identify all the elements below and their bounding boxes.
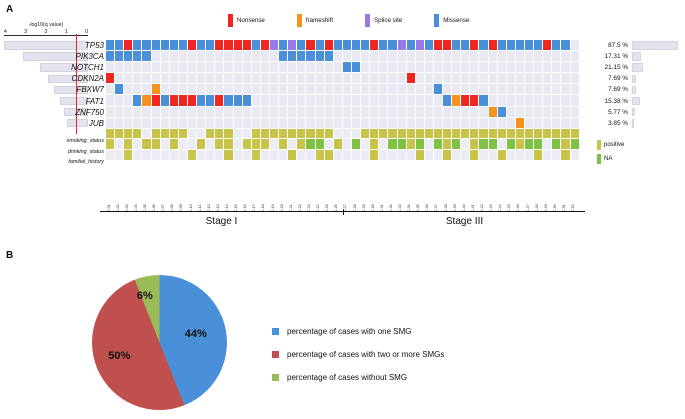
clinical-cell bbox=[416, 139, 425, 150]
oncoprint-cell bbox=[279, 95, 288, 106]
sample-id-cell: ESCC-23 bbox=[306, 172, 315, 212]
clinical-cell bbox=[224, 129, 233, 140]
oncoprint-cell bbox=[452, 51, 461, 62]
clinical-cell bbox=[470, 129, 479, 140]
oncoprint-cell bbox=[243, 107, 252, 118]
oncoprint-cell bbox=[434, 73, 443, 84]
oncoprint-cell bbox=[215, 40, 224, 51]
mutation-legend-item: Splice site bbox=[365, 14, 402, 27]
oncoprint-cell bbox=[507, 95, 516, 106]
clinical-cell bbox=[179, 129, 188, 140]
clinical-cell bbox=[306, 139, 315, 150]
oncoprint-cell bbox=[325, 62, 334, 73]
clinical-cell bbox=[188, 150, 197, 161]
gene-row: CDKN2A bbox=[56, 73, 104, 84]
oncoprint-row bbox=[106, 95, 580, 106]
pie-chart-legend: percentage of cases with one SMGpercenta… bbox=[272, 327, 444, 396]
oncoprint-cell bbox=[179, 73, 188, 84]
oncoprint-cell bbox=[316, 84, 325, 95]
oncoprint-cell bbox=[452, 40, 461, 51]
frequency-bar bbox=[632, 119, 634, 128]
oncoprint-cell bbox=[443, 62, 452, 73]
oncoprint-cell bbox=[224, 118, 233, 129]
clinical-cell bbox=[325, 129, 334, 140]
oncoprint-cell bbox=[525, 95, 534, 106]
clinical-cell bbox=[234, 150, 243, 161]
clinical-cell bbox=[379, 150, 388, 161]
qvalue-tick: 4 bbox=[4, 29, 7, 35]
oncoprint-cell bbox=[489, 95, 498, 106]
sample-id-cell: ESCC-21 bbox=[288, 172, 297, 212]
oncoprint-cell bbox=[252, 73, 261, 84]
oncoprint-cell bbox=[571, 73, 580, 84]
pie-legend-label: percentage of cases without SMG bbox=[287, 373, 407, 382]
clinical-cell bbox=[479, 129, 488, 140]
oncoprint-cell bbox=[152, 40, 161, 51]
oncoprint-cell bbox=[124, 73, 133, 84]
oncoprint-cell bbox=[133, 40, 142, 51]
clinical-row-label: smoking_status bbox=[67, 138, 104, 144]
oncoprint-cell bbox=[461, 84, 470, 95]
oncoprint-cell bbox=[543, 40, 552, 51]
oncoprint-cell bbox=[534, 95, 543, 106]
oncoprint-cell bbox=[516, 73, 525, 84]
oncoprint-cell bbox=[170, 107, 179, 118]
sample-id-cell: ESCC-41 bbox=[470, 172, 479, 212]
oncoprint-cell bbox=[516, 62, 525, 73]
oncoprint-cell bbox=[525, 84, 534, 95]
clinical-cell bbox=[543, 129, 552, 140]
oncoprint-cell bbox=[252, 40, 261, 51]
oncoprint-cell bbox=[224, 84, 233, 95]
clinical-cell bbox=[507, 129, 516, 140]
oncoprint-cell bbox=[543, 84, 552, 95]
oncoprint-cell bbox=[106, 118, 115, 129]
oncoprint-cell bbox=[142, 62, 151, 73]
sample-id-cell: ESCC-25 bbox=[325, 172, 334, 212]
oncoprint-cell bbox=[470, 40, 479, 51]
oncoprint-cell bbox=[124, 84, 133, 95]
oncoprint-cell bbox=[352, 62, 361, 73]
oncoprint-cell bbox=[434, 84, 443, 95]
oncoprint-cell bbox=[361, 40, 370, 51]
oncoprint-cell bbox=[507, 62, 516, 73]
pie-legend-label: percentage of cases with two or more SMG… bbox=[287, 350, 444, 359]
clinical-cell bbox=[297, 129, 306, 140]
oncoprint-cell bbox=[325, 84, 334, 95]
oncoprint-cell bbox=[479, 118, 488, 129]
oncoprint-cell bbox=[361, 118, 370, 129]
clinical-cell bbox=[507, 139, 516, 150]
oncoprint-cell bbox=[407, 40, 416, 51]
oncoprint-cell bbox=[461, 118, 470, 129]
oncoprint-cell bbox=[443, 51, 452, 62]
clinical-cell bbox=[443, 139, 452, 150]
oncoprint-cell bbox=[361, 73, 370, 84]
clinical-cell bbox=[343, 129, 352, 140]
oncoprint-cell bbox=[507, 107, 516, 118]
oncoprint-cell bbox=[489, 73, 498, 84]
oncoprint-cell bbox=[561, 62, 570, 73]
oncoprint-cell bbox=[534, 84, 543, 95]
oncoprint-cell bbox=[325, 73, 334, 84]
oncoprint-cell bbox=[106, 107, 115, 118]
gene-label: FAT1 bbox=[86, 97, 104, 106]
clinical-cell bbox=[179, 139, 188, 150]
frequency-bar bbox=[632, 75, 636, 84]
sample-id-cell: ESCC-35 bbox=[416, 172, 425, 212]
sample-id-cell: ESCC-03 bbox=[124, 172, 133, 212]
oncoprint-cell bbox=[279, 84, 288, 95]
stage3-bracket bbox=[344, 211, 585, 212]
oncoprint-cell bbox=[106, 84, 115, 95]
sample-id-cell: ESCC-51 bbox=[561, 172, 570, 212]
oncoprint-cell bbox=[270, 62, 279, 73]
oncoprint-cell bbox=[561, 40, 570, 51]
oncoprint-cell bbox=[388, 95, 397, 106]
sample-id-cell: ESCC-20 bbox=[279, 172, 288, 212]
oncoprint-cell bbox=[334, 73, 343, 84]
mutation-percentage: 21.15 % bbox=[605, 64, 628, 71]
oncoprint-cell bbox=[507, 51, 516, 62]
mutation-legend-item: frameshift bbox=[297, 14, 333, 27]
oncoprint-cell bbox=[343, 84, 352, 95]
oncoprint-cell bbox=[571, 107, 580, 118]
clinical-cell bbox=[252, 139, 261, 150]
sample-id-cell: ESCC-47 bbox=[525, 172, 534, 212]
oncoprint-cell bbox=[416, 51, 425, 62]
oncoprint-cell bbox=[115, 84, 124, 95]
oncoprint-cell bbox=[379, 95, 388, 106]
oncoprint-cell bbox=[234, 107, 243, 118]
clinical-cell bbox=[152, 150, 161, 161]
clinical-cell bbox=[334, 139, 343, 150]
mutation-percentage: 7.69 % bbox=[608, 75, 628, 82]
oncoprint-cell bbox=[152, 107, 161, 118]
sample-id-cell: ESCC-30 bbox=[370, 172, 379, 212]
oncoprint-cell bbox=[352, 84, 361, 95]
clinical-cell bbox=[361, 150, 370, 161]
gene-label: NOTCH1 bbox=[71, 63, 104, 72]
clinical-cell bbox=[152, 129, 161, 140]
mutation-legend-item: Nonsense bbox=[228, 14, 265, 27]
oncoprint-cell bbox=[115, 107, 124, 118]
oncoprint-cell bbox=[398, 51, 407, 62]
oncoprint-cell bbox=[561, 95, 570, 106]
oncoprint-cell bbox=[234, 73, 243, 84]
oncoprint-cell bbox=[152, 118, 161, 129]
oncoprint-cell bbox=[543, 73, 552, 84]
mutation-percentage: 5.77 % bbox=[608, 109, 628, 116]
oncoprint-cell bbox=[543, 107, 552, 118]
clinical-cell bbox=[124, 139, 133, 150]
oncoprint-cell bbox=[316, 40, 325, 51]
sample-id-cell: ESCC-28 bbox=[352, 172, 361, 212]
oncoprint-cell bbox=[316, 51, 325, 62]
oncoprint-cell bbox=[197, 62, 206, 73]
clinical-cell bbox=[516, 139, 525, 150]
oncoprint-row bbox=[106, 40, 580, 51]
gene-row: JUB bbox=[56, 118, 104, 129]
oncoprint-cell bbox=[470, 107, 479, 118]
oncoprint-cell bbox=[252, 107, 261, 118]
oncoprint-cell bbox=[124, 51, 133, 62]
oncoprint-cell bbox=[334, 84, 343, 95]
oncoprint-cell bbox=[133, 95, 142, 106]
oncoprint-cell bbox=[115, 73, 124, 84]
sample-id-cell: ESCC-29 bbox=[361, 172, 370, 212]
clinical-cell bbox=[206, 139, 215, 150]
clinical-cell bbox=[106, 129, 115, 140]
clinical-row-label-wrap: smoking_status bbox=[26, 136, 104, 147]
oncoprint-cell bbox=[316, 118, 325, 129]
oncoprint-cell bbox=[343, 40, 352, 51]
oncoprint-cell bbox=[306, 84, 315, 95]
oncoprint-cell bbox=[234, 40, 243, 51]
oncoprint-cell bbox=[197, 73, 206, 84]
oncoprint-cell bbox=[161, 62, 170, 73]
oncoprint-cell bbox=[370, 73, 379, 84]
oncoprint-cell bbox=[224, 51, 233, 62]
clinical-cell bbox=[443, 150, 452, 161]
clinical-cell bbox=[234, 129, 243, 140]
frequency-bar-row bbox=[632, 73, 682, 84]
oncoprint-cell bbox=[152, 73, 161, 84]
oncoprint-cell bbox=[234, 62, 243, 73]
oncoprint-cell bbox=[498, 107, 507, 118]
oncoprint-cell bbox=[161, 40, 170, 51]
frequency-bar bbox=[632, 41, 678, 50]
oncoprint-cell bbox=[288, 95, 297, 106]
clinical-cell bbox=[288, 129, 297, 140]
oncoprint-cell bbox=[161, 95, 170, 106]
sample-id-cell: ESCC-11 bbox=[197, 172, 206, 212]
clinical-cell bbox=[461, 139, 470, 150]
oncoprint-row bbox=[106, 62, 580, 73]
sample-id-cell: ESCC-39 bbox=[452, 172, 461, 212]
clinical-cell bbox=[325, 139, 334, 150]
gene-label-list: TP53PIK3CANOTCH1CDKN2AFBXW7FAT1ZNF750JUB bbox=[56, 40, 104, 129]
oncoprint-cell bbox=[407, 84, 416, 95]
oncoprint-cell bbox=[552, 118, 561, 129]
oncoprint-cell bbox=[407, 118, 416, 129]
oncoprint-cell bbox=[161, 84, 170, 95]
gene-label: JUB bbox=[89, 119, 104, 128]
oncoprint-cell bbox=[224, 62, 233, 73]
oncoprint-cell bbox=[297, 51, 306, 62]
oncoprint-row bbox=[106, 73, 580, 84]
oncoprint-cell bbox=[443, 107, 452, 118]
oncoprint-cell bbox=[507, 84, 516, 95]
oncoprint-cell bbox=[279, 62, 288, 73]
oncoprint-cell bbox=[561, 118, 570, 129]
sample-id-cell: ESCC-01 bbox=[106, 172, 115, 212]
oncoprint-cell bbox=[425, 84, 434, 95]
oncoprint-cell bbox=[252, 118, 261, 129]
oncoprint-cell bbox=[561, 107, 570, 118]
oncoprint-cell bbox=[434, 62, 443, 73]
clinical-cell bbox=[206, 150, 215, 161]
sample-id-cell: ESCC-04 bbox=[133, 172, 142, 212]
oncoprint-cell bbox=[188, 84, 197, 95]
oncoprint-cell bbox=[152, 62, 161, 73]
oncoprint-cell bbox=[334, 95, 343, 106]
mutation-percentage: 17.31 % bbox=[605, 53, 628, 60]
oncoprint-cell bbox=[552, 73, 561, 84]
oncoprint-cell bbox=[571, 95, 580, 106]
oncoprint-cell bbox=[270, 40, 279, 51]
oncoprint-cell bbox=[316, 73, 325, 84]
oncoprint-cell bbox=[297, 107, 306, 118]
clinical-cell bbox=[398, 150, 407, 161]
sample-id-cell: ESCC-44 bbox=[498, 172, 507, 212]
clinical-cell bbox=[561, 129, 570, 140]
clinical-cell bbox=[452, 150, 461, 161]
oncoprint-cell bbox=[452, 84, 461, 95]
mutation-percentage: 87.5 % bbox=[608, 42, 628, 49]
oncoprint-cell bbox=[352, 40, 361, 51]
clinical-cell bbox=[170, 129, 179, 140]
sample-id-cell: ESCC-12 bbox=[206, 172, 215, 212]
pie-legend-swatch bbox=[272, 374, 279, 381]
oncoprint-cell bbox=[224, 107, 233, 118]
clinical-cell bbox=[252, 129, 261, 140]
oncoprint-cell bbox=[571, 118, 580, 129]
qvalue-tick: 0 bbox=[85, 29, 88, 35]
sample-id-cell: ESCC-27 bbox=[343, 172, 352, 212]
clinical-cell bbox=[552, 150, 561, 161]
oncoprint-cell bbox=[498, 84, 507, 95]
stage1-bracket bbox=[100, 211, 343, 212]
oncoprint-cell bbox=[352, 107, 361, 118]
oncoprint-cell bbox=[343, 62, 352, 73]
oncoprint-cell bbox=[498, 62, 507, 73]
oncoprint-cell bbox=[133, 51, 142, 62]
oncoprint-cell bbox=[161, 51, 170, 62]
clinical-cell bbox=[279, 129, 288, 140]
legend-swatch-missense bbox=[434, 14, 439, 27]
clinical-cell bbox=[316, 150, 325, 161]
oncoprint-cell bbox=[343, 118, 352, 129]
oncoprint-cell bbox=[407, 51, 416, 62]
clinical-cell bbox=[197, 129, 206, 140]
oncoprint-cell bbox=[170, 95, 179, 106]
gene-row: TP53 bbox=[56, 40, 104, 51]
clinical-cell bbox=[507, 150, 516, 161]
oncoprint-cell bbox=[306, 73, 315, 84]
oncoprint-row bbox=[106, 51, 580, 62]
oncoprint-cell bbox=[188, 51, 197, 62]
oncoprint-cell bbox=[261, 40, 270, 51]
oncoprint-cell bbox=[279, 40, 288, 51]
clinical-cell bbox=[498, 129, 507, 140]
oncoprint-cell bbox=[379, 118, 388, 129]
sample-id-cell: ESCC-49 bbox=[543, 172, 552, 212]
oncoprint-cell bbox=[325, 95, 334, 106]
oncoprint-cell bbox=[243, 51, 252, 62]
clinical-cell bbox=[243, 150, 252, 161]
oncoprint-cell bbox=[243, 73, 252, 84]
oncoprint-cell bbox=[434, 95, 443, 106]
oncoprint-cell bbox=[152, 84, 161, 95]
oncoprint-cell bbox=[370, 107, 379, 118]
gene-label: PIK3CA bbox=[76, 52, 104, 61]
oncoprint-row bbox=[106, 107, 580, 118]
oncoprint-cell bbox=[261, 107, 270, 118]
clinical-cell bbox=[525, 150, 534, 161]
oncoprint-cell bbox=[425, 118, 434, 129]
oncoprint-cell bbox=[243, 118, 252, 129]
frequency-bar bbox=[632, 52, 641, 61]
sample-id-cell: ESCC-24 bbox=[316, 172, 325, 212]
oncoprint-cell bbox=[179, 40, 188, 51]
oncoprint-cell bbox=[370, 62, 379, 73]
clinical-cell bbox=[343, 139, 352, 150]
pie-slice-value: 44% bbox=[185, 328, 207, 340]
oncoprint-cell bbox=[498, 40, 507, 51]
oncoprint-cell bbox=[261, 95, 270, 106]
mutation-percentage: 3.85 % bbox=[608, 120, 628, 127]
oncoprint-cell bbox=[142, 73, 151, 84]
oncoprint-cell bbox=[470, 73, 479, 84]
clinical-cell bbox=[571, 129, 580, 140]
clinical-legend-item: positive bbox=[597, 140, 624, 150]
oncoprint-cell bbox=[516, 118, 525, 129]
oncoprint-cell bbox=[179, 51, 188, 62]
frequency-bar-row bbox=[632, 118, 682, 129]
clinical-cell bbox=[270, 129, 279, 140]
clinical-cell bbox=[352, 129, 361, 140]
legend-label: Nonsense bbox=[237, 17, 265, 24]
clinical-cell bbox=[479, 150, 488, 161]
oncoprint-cell bbox=[252, 62, 261, 73]
oncoprint-cell bbox=[407, 107, 416, 118]
oncoprint-cell bbox=[416, 73, 425, 84]
smg-pie-chart bbox=[92, 275, 227, 410]
oncoprint-cell bbox=[161, 107, 170, 118]
oncoprint-cell bbox=[170, 118, 179, 129]
oncoprint-cell bbox=[188, 62, 197, 73]
frequency-bar bbox=[632, 86, 636, 95]
sample-id-cell: ESCC-05 bbox=[142, 172, 151, 212]
oncoprint-cell bbox=[297, 95, 306, 106]
oncoprint-cell bbox=[443, 84, 452, 95]
oncoprint-cell bbox=[270, 95, 279, 106]
clinical-cell bbox=[352, 139, 361, 150]
oncoprint-cell bbox=[489, 51, 498, 62]
sample-id-cell: ESCC-48 bbox=[534, 172, 543, 212]
clinical-cell bbox=[270, 150, 279, 161]
oncoprint-cell bbox=[297, 40, 306, 51]
oncoprint-cell bbox=[224, 95, 233, 106]
oncoprint-cell bbox=[188, 73, 197, 84]
legend-swatch-frameshift bbox=[297, 14, 302, 27]
oncoprint-cell bbox=[398, 107, 407, 118]
clinical-row bbox=[106, 129, 580, 140]
clinical-cell bbox=[179, 150, 188, 161]
oncoprint-cell bbox=[152, 95, 161, 106]
sample-id-cell: ESCC-02 bbox=[115, 172, 124, 212]
oncoprint-cell bbox=[407, 73, 416, 84]
sample-id-cell: ESCC-08 bbox=[170, 172, 179, 212]
clinical-cell bbox=[543, 150, 552, 161]
oncoprint-cell bbox=[215, 84, 224, 95]
oncoprint-cell bbox=[516, 95, 525, 106]
clinical-cell bbox=[434, 139, 443, 150]
oncoprint-cell bbox=[552, 95, 561, 106]
oncoprint-cell bbox=[316, 62, 325, 73]
clinical-cell bbox=[416, 129, 425, 140]
